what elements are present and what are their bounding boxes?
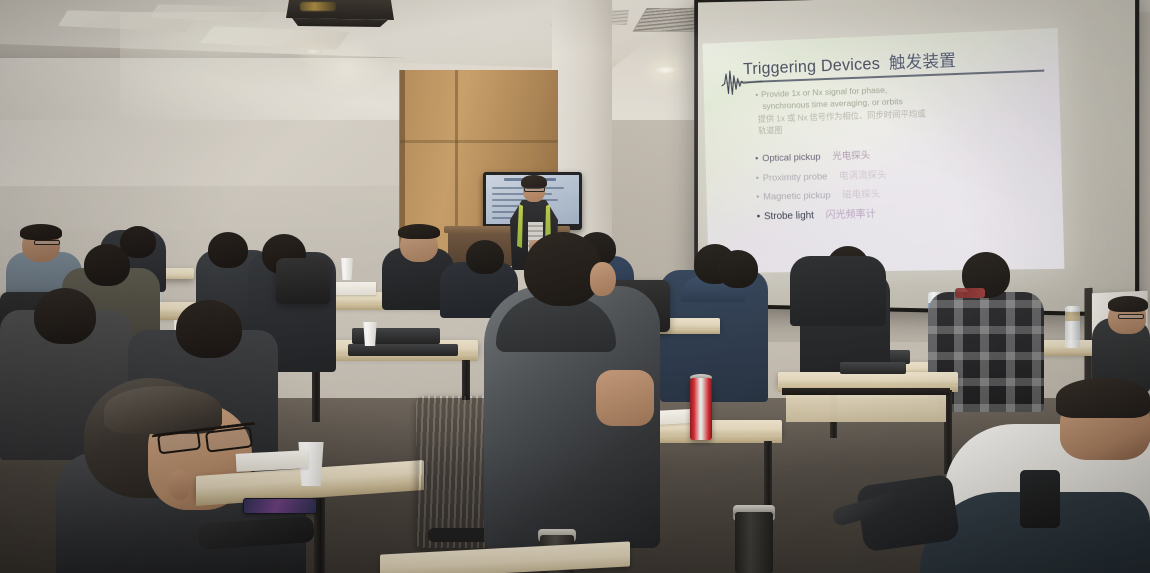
attendee-hair [1108,296,1148,312]
desk-modesty-panel [786,392,946,422]
eyeglasses-icon [34,240,60,245]
attendee-head [176,300,242,358]
bullet-label-cn: 光电探头 [832,150,870,162]
laptop-base [348,344,458,356]
attendee-head [718,250,758,288]
eyeglasses-icon [1118,314,1144,319]
attendee-hair [20,224,62,240]
foreground-attendee-hair [1056,378,1150,418]
laptop [840,362,906,374]
bullet-glyph: • [757,211,761,222]
task-chair [276,258,330,304]
attendee-head [208,232,248,268]
desk [778,372,958,386]
soda-can [690,378,712,440]
attendee-head [84,244,130,286]
attendee-hair [398,224,440,239]
intro-line-cn-2: 轨道图 [758,125,782,136]
projector-lens-icon [300,2,336,11]
bullet-label-en: Optical pickup [762,152,821,164]
slide-title-cn: 触发装置 [889,52,957,73]
chair-base [1020,470,1060,528]
bullet-label-cn: 闪光频率计 [825,209,875,221]
slide-intro-bullet: •Provide 1x or Nx signal for phase, sync… [755,78,1046,137]
thermos-flask [735,512,773,573]
desk-leg [462,360,470,400]
bullet-label-en: Proximity probe [763,171,828,183]
bullet-glyph: • [755,153,759,164]
bullet-glyph: • [756,192,760,203]
bullet-label-cn: 电涡流探头 [839,169,887,181]
bottle-label [1065,312,1080,321]
handout [236,450,309,472]
bullet-label-cn: 磁电探头 [842,189,880,201]
attendee-head [466,240,504,274]
attendee-head [524,232,602,306]
projected-slide: Triggering Devices触发装置 •Provide 1x or Nx… [703,28,1065,273]
attendee-hand [596,370,654,426]
bullet-label-en: Strobe light [764,210,814,222]
bullet-glyph: • [755,90,758,100]
collar [955,288,985,298]
classroom-photo: Triggering Devices触发装置 •Provide 1x or Nx… [0,0,1150,573]
smartphone [243,498,317,514]
attendee-torso [790,256,886,326]
wood-panel-seam [400,140,558,143]
bullet-glyph: • [756,173,760,184]
eyeglasses-icon [524,187,545,192]
slide-bullet-list: •Optical pickup光电探头 •Proximity probe电涡流探… [755,141,1057,227]
ceiling-light-glow [300,36,390,96]
downlight-icon [303,48,323,55]
attendee-face [590,262,616,296]
downlight-icon [655,66,677,74]
bullet-label-en: Magnetic pickup [763,190,831,202]
foreground-attendee-ear [168,470,190,500]
desk-rail [782,388,950,395]
attendee-head [34,288,96,344]
